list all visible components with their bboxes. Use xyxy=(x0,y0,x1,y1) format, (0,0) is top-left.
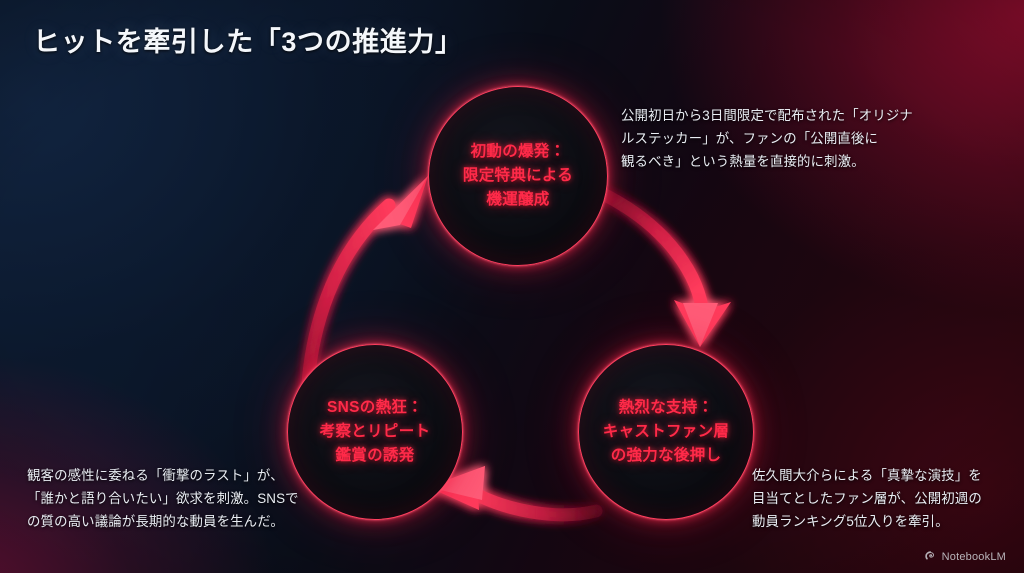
node-line: 熱烈な支持： xyxy=(619,396,714,420)
node-line: キャストファン層 xyxy=(603,420,729,444)
node-line: の強力な後押し xyxy=(611,444,722,468)
caption-line: ルステッカー」が、ファンの「公開直後に xyxy=(621,127,913,150)
page-title: ヒットを牽引した「3つの推進力」 xyxy=(33,20,463,59)
node-sns-frenzy[interactable]: SNSの熱狂： 考察とリピート 鑑賞の誘発 xyxy=(287,344,463,520)
caption-line: 「誰かと語り合いたい」欲求を刺激。SNSで xyxy=(27,487,299,510)
node-line: 初動の爆発： xyxy=(471,140,566,164)
caption-top-right: 公開初日から3日間限定で配布された「オリジナ ルステッカー」が、ファンの「公開直… xyxy=(621,104,913,173)
arrow-top-to-right xyxy=(607,196,731,347)
node-line: 機運醸成 xyxy=(486,188,549,212)
caption-line: 目当てとしたファン層が、公開初週の xyxy=(752,487,982,510)
caption-line: 観客の感性に委ねる「衝撃のラスト」が、 xyxy=(27,464,299,487)
caption-line: 観るべき」という熱量を直接的に刺激。 xyxy=(621,150,913,173)
node-passionate-support[interactable]: 熱烈な支持： キャストファン層 の強力な後押し xyxy=(578,344,754,520)
notebooklm-watermark: NotebookLM xyxy=(924,550,1006,563)
caption-line: 佐久間大介らによる「真摯な演技」を xyxy=(752,464,982,487)
caption-line: 公開初日から3日間限定で配布された「オリジナ xyxy=(621,104,913,127)
slide-canvas: ヒットを牽引した「3つの推進力」 xyxy=(0,0,1024,573)
caption-bottom-left: 観客の感性に委ねる「衝撃のラスト」が、 「誰かと語り合いたい」欲求を刺激。SNS… xyxy=(27,464,299,533)
node-line: 考察とリピート xyxy=(320,420,431,444)
node-line: 鑑賞の誘発 xyxy=(335,444,414,468)
caption-line: の質の高い議論が長期的な動員を生んだ。 xyxy=(27,510,299,533)
arrow-right-to-left xyxy=(428,466,596,515)
caption-bottom-right: 佐久間大介らによる「真摯な演技」を 目当てとしたファン層が、公開初週の 動員ラン… xyxy=(752,464,982,533)
node-initial-burst[interactable]: 初動の爆発： 限定特典による 機運醸成 xyxy=(428,86,608,266)
caption-line: 動員ランキング5位入りを牽引。 xyxy=(752,510,982,533)
node-line: SNSの熱狂： xyxy=(327,396,423,420)
watermark-label: NotebookLM xyxy=(942,551,1006,563)
node-line: 限定特典による xyxy=(463,164,573,188)
notebooklm-icon xyxy=(924,550,937,563)
